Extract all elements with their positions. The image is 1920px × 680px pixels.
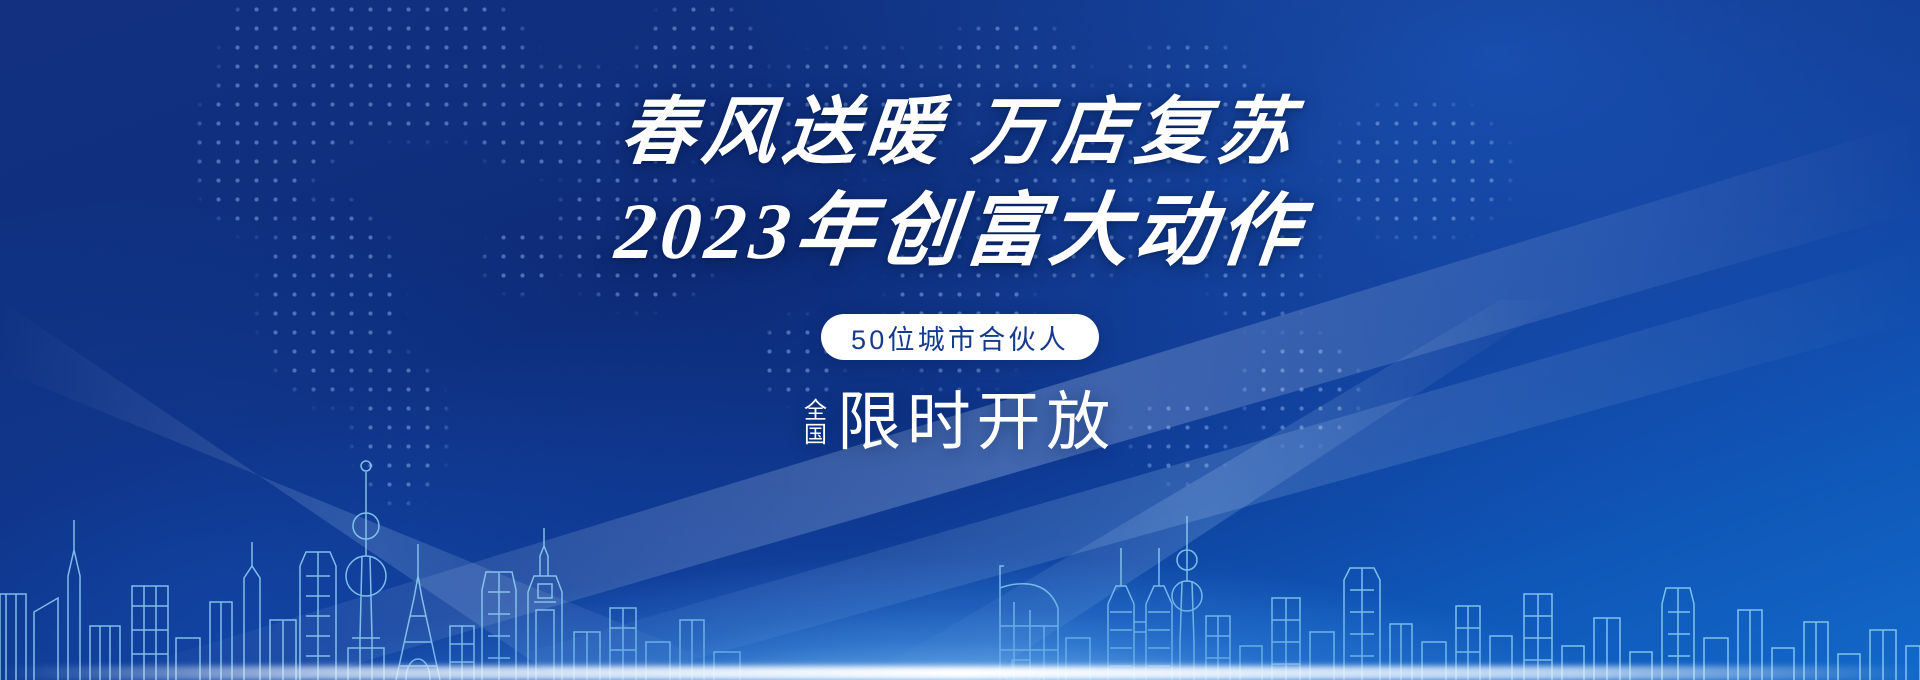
- tagline-main-text: 限时开放: [837, 390, 1116, 454]
- tagline-prefix-stack: 全 国: [804, 399, 827, 454]
- banner-content: 春风送暖 万店复苏 2023年创富大动作 50位城市合伙人 全 国 限时开放: [0, 0, 1920, 680]
- promo-banner: 春风送暖 万店复苏 2023年创富大动作 50位城市合伙人 全 国 限时开放: [0, 0, 1920, 680]
- tagline-prefix-top: 全: [804, 399, 827, 422]
- badge-row: 50位城市合伙人: [821, 314, 1099, 360]
- tagline-prefix-bottom: 国: [804, 423, 827, 446]
- tagline: 全 国 限时开放: [804, 390, 1116, 454]
- headline-line-1: 春风送暖 万店复苏: [618, 96, 1303, 170]
- headline-line-2: 2023年创富大动作: [612, 192, 1308, 272]
- city-partner-badge[interactable]: 50位城市合伙人: [821, 314, 1099, 360]
